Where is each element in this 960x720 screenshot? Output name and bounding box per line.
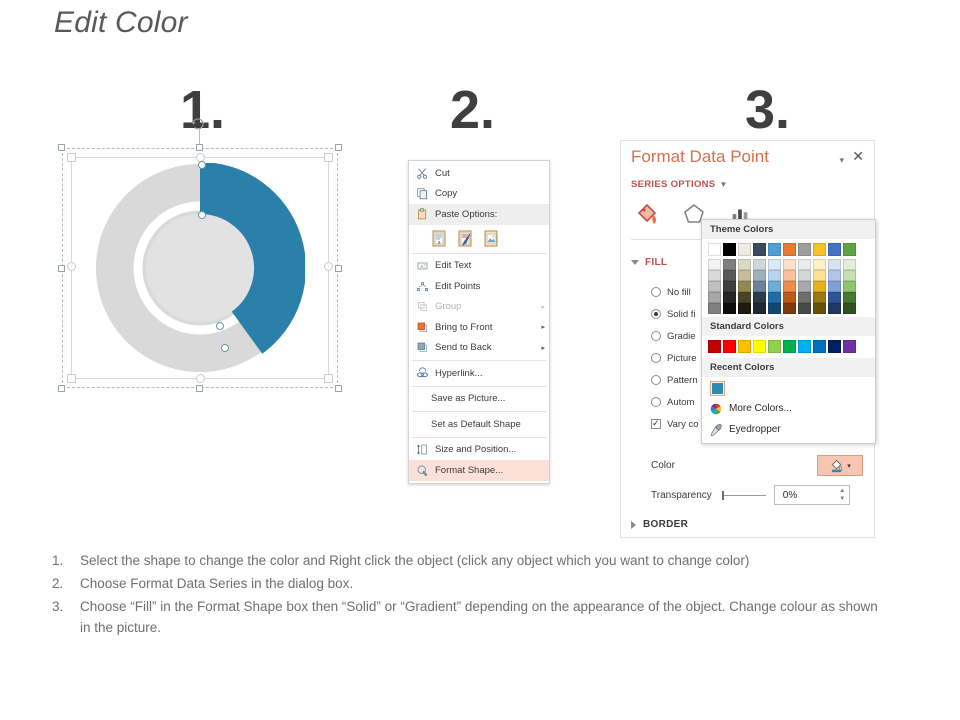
menu-item-label: Size and Position... <box>435 444 545 455</box>
theme-color-column[interactable] <box>753 243 766 314</box>
slider-track[interactable] <box>724 495 766 496</box>
menu-item-send-to-back[interactable]: Send to Back ▸ <box>409 338 549 359</box>
theme-color-swatch[interactable] <box>708 259 721 270</box>
clipboard-icon <box>413 206 431 222</box>
menu-separator <box>412 437 546 438</box>
color-label: Color <box>651 460 675 471</box>
theme-color-column[interactable] <box>768 243 781 314</box>
transparency-label: Transparency <box>651 490 712 501</box>
slice-handle-top-outer[interactable] <box>198 161 206 169</box>
size-position-icon <box>413 442 431 458</box>
chart-frame-handle-sw[interactable] <box>67 374 76 383</box>
svg-text:a: a <box>438 240 441 246</box>
edit-points-icon <box>413 278 431 294</box>
theme-color-swatch[interactable] <box>798 270 811 281</box>
scissors-icon <box>413 165 431 181</box>
format-shape-icon <box>413 462 431 478</box>
theme-color-swatch[interactable] <box>723 303 736 314</box>
standard-colors-header: Standard Colors <box>702 317 875 336</box>
theme-color-swatch[interactable] <box>813 281 826 292</box>
radio-picture-fill[interactable]: Picture <box>651 347 699 369</box>
radio-label: Autom <box>667 397 694 408</box>
submenu-arrow-icon: ▸ <box>537 303 545 311</box>
instruction-item: 2. Choose Format Data Series in the dial… <box>52 573 882 594</box>
menu-separator <box>412 411 546 412</box>
menu-item-size-and-position[interactable]: Size and Position... <box>409 440 549 461</box>
radio-label: Gradie <box>667 331 696 342</box>
fill-section-label: FILL <box>645 257 667 268</box>
resize-handle-nw[interactable] <box>58 144 65 151</box>
recent-colors-header: Recent Colors <box>702 358 875 377</box>
radio-button[interactable] <box>651 353 661 363</box>
theme-color-swatch[interactable] <box>738 243 751 256</box>
resize-handle-s[interactable] <box>196 385 203 392</box>
radio-button-selected[interactable] <box>651 309 661 319</box>
standard-color-swatch[interactable] <box>723 340 736 353</box>
chart-frame-handle-s[interactable] <box>196 374 205 383</box>
resize-handle-w[interactable] <box>58 265 65 272</box>
submenu-arrow-icon: ▸ <box>537 344 545 352</box>
checkbox[interactable] <box>651 419 661 429</box>
theme-color-swatch[interactable] <box>768 270 781 281</box>
menu-item-edit-points[interactable]: Edit Points <box>409 276 549 297</box>
more-colors-label: More Colors... <box>729 403 792 414</box>
menu-item-bring-to-front[interactable]: Bring to Front ▸ <box>409 317 549 338</box>
spinner-arrows[interactable]: ▲ ▼ <box>836 489 849 502</box>
step-number-2: 2. <box>450 83 495 137</box>
menu-item-format-shape[interactable]: Format Shape... <box>409 460 549 481</box>
slice-handle-bottom-outer[interactable] <box>221 344 229 352</box>
eyedropper-label: Eyedropper <box>729 424 781 435</box>
slice-handle-top-inner[interactable] <box>198 211 206 219</box>
radio-label: Pattern <box>667 375 698 386</box>
theme-color-swatch[interactable] <box>813 292 826 303</box>
theme-color-swatch[interactable] <box>828 292 841 303</box>
theme-color-swatch[interactable] <box>738 303 751 314</box>
eyedropper-item[interactable]: Eyedropper <box>702 419 875 443</box>
theme-color-swatch[interactable] <box>783 259 796 270</box>
instructions-list: 1. Select the shape to change the color … <box>52 550 882 640</box>
theme-color-swatch[interactable] <box>783 292 796 303</box>
instruction-text: Choose Format Data Series in the dialog … <box>80 573 882 594</box>
chevron-down-icon[interactable]: ▾ <box>847 462 851 470</box>
color-setting-row[interactable]: Color ▾ <box>651 455 863 476</box>
chart-frame-handle-w[interactable] <box>67 262 76 271</box>
menu-item-save-as-picture[interactable]: Save as Picture... <box>409 389 549 410</box>
pane-options-caret-icon[interactable]: ▾ <box>839 155 844 166</box>
standard-color-swatch[interactable] <box>798 340 811 353</box>
theme-color-swatch[interactable] <box>768 281 781 292</box>
theme-color-swatch[interactable] <box>723 243 736 256</box>
series-options-label: SERIES OPTIONS <box>631 179 715 190</box>
chevron-down-icon: ▼ <box>719 180 727 189</box>
resize-handle-ne[interactable] <box>335 144 342 151</box>
menu-item-label: Bring to Front <box>435 322 537 333</box>
menu-separator <box>412 386 546 387</box>
instruction-number: 1. <box>52 550 80 571</box>
theme-color-swatch[interactable] <box>798 303 811 314</box>
radio-automatic-fill[interactable]: Autom <box>651 391 699 413</box>
theme-color-swatch[interactable] <box>828 270 841 281</box>
chart-frame-handle-se[interactable] <box>324 374 333 383</box>
radio-button[interactable] <box>651 375 661 385</box>
theme-color-column[interactable] <box>708 243 721 314</box>
send-to-back-icon <box>413 340 431 356</box>
hyperlink-icon <box>413 365 431 381</box>
theme-color-column[interactable] <box>798 243 811 314</box>
menu-item-label: Format Shape... <box>435 465 545 476</box>
paste-keep-source-formatting-icon[interactable]: a <box>431 229 448 247</box>
menu-item-paste-options: Paste Options: <box>409 204 549 225</box>
standard-color-swatch[interactable] <box>828 340 841 353</box>
instruction-item: 1. Select the shape to change the color … <box>52 550 882 571</box>
theme-color-swatch[interactable] <box>813 259 826 270</box>
theme-color-swatch[interactable] <box>768 292 781 303</box>
rotate-handle-icon[interactable] <box>190 116 206 132</box>
fill-options-group[interactable]: No fill Solid fi Gradie Picture Pattern … <box>651 281 699 435</box>
transparency-slider[interactable] <box>722 491 766 500</box>
menu-item-label: Save as Picture... <box>431 393 545 404</box>
theme-color-swatch[interactable] <box>843 243 856 256</box>
theme-color-swatch[interactable] <box>708 292 721 303</box>
resize-handle-se[interactable] <box>335 385 342 392</box>
menu-item-label: Hyperlink... <box>435 368 545 379</box>
resize-handle-e[interactable] <box>335 265 342 272</box>
menu-item-group: Group ▸ <box>409 297 549 318</box>
theme-color-swatch[interactable] <box>753 303 766 314</box>
theme-color-column[interactable] <box>828 243 841 314</box>
theme-color-swatch[interactable] <box>723 270 736 281</box>
edit-text-icon: A <box>413 258 431 274</box>
theme-color-swatch[interactable] <box>813 243 826 256</box>
theme-color-swatch[interactable] <box>723 292 736 303</box>
instruction-text: Select the shape to change the color and… <box>80 550 882 571</box>
standard-color-swatch[interactable] <box>843 340 856 353</box>
transparency-value[interactable]: 0% <box>775 490 836 501</box>
standard-color-swatch[interactable] <box>738 340 751 353</box>
more-colors-item[interactable]: More Colors... <box>702 398 875 419</box>
menu-separator <box>412 253 546 254</box>
chart-plot-frame[interactable] <box>71 157 329 379</box>
chart-frame-handle-ne[interactable] <box>324 153 333 162</box>
border-section-header[interactable]: BORDER <box>631 519 688 530</box>
theme-color-swatch[interactable] <box>843 270 856 281</box>
triangle-down-icon <box>631 260 639 265</box>
donut-chart[interactable] <box>95 163 305 373</box>
context-menu[interactable]: Cut Copy Paste Options: <box>408 160 550 484</box>
menu-item-label: Paste Options: <box>435 209 545 220</box>
theme-color-swatch[interactable] <box>798 281 811 292</box>
radio-solid-fill[interactable]: Solid fi <box>651 303 699 325</box>
paste-options-row[interactable]: a <box>409 225 549 251</box>
fill-bucket-icon <box>829 458 844 473</box>
close-icon[interactable]: ✕ <box>852 149 864 163</box>
theme-color-swatch[interactable] <box>753 259 766 270</box>
menu-item-label: Edit Text <box>435 260 545 271</box>
spinner-down-icon[interactable]: ▼ <box>839 497 845 502</box>
theme-color-swatch[interactable] <box>708 243 721 256</box>
instruction-number: 2. <box>52 573 80 594</box>
theme-color-swatch[interactable] <box>753 270 766 281</box>
theme-color-swatch[interactable] <box>783 270 796 281</box>
menu-item-copy[interactable]: Copy <box>409 184 549 205</box>
theme-color-swatch[interactable] <box>813 270 826 281</box>
step-number-3: 3. <box>745 83 790 137</box>
theme-color-swatch[interactable] <box>753 281 766 292</box>
menu-item-label: Edit Points <box>435 281 545 292</box>
recent-colors-row[interactable] <box>702 377 875 398</box>
theme-color-swatch[interactable] <box>828 281 841 292</box>
theme-color-swatch[interactable] <box>828 303 841 314</box>
menu-item-label: Copy <box>435 188 545 199</box>
color-wheel-icon <box>708 401 723 416</box>
eyedropper-icon <box>708 422 723 437</box>
theme-color-swatch[interactable] <box>723 281 736 292</box>
radio-pattern-fill[interactable]: Pattern <box>651 369 699 391</box>
fill-section-header[interactable]: FILL <box>631 257 667 268</box>
color-picker-flyout[interactable]: Theme Colors Standard Colors Recent Colo… <box>701 219 876 444</box>
submenu-arrow-icon: ▸ <box>537 323 545 331</box>
radio-button[interactable] <box>651 287 661 297</box>
theme-color-swatch[interactable] <box>813 303 826 314</box>
standard-color-swatch[interactable] <box>768 340 781 353</box>
chart-selection-area[interactable] <box>62 148 338 388</box>
theme-color-column[interactable] <box>723 243 736 314</box>
checkbox-vary-colors[interactable]: Vary co <box>651 413 699 435</box>
standard-colors-row[interactable] <box>702 336 875 358</box>
theme-color-swatch[interactable] <box>843 303 856 314</box>
color-picker-button[interactable]: ▾ <box>817 455 863 476</box>
group-icon <box>413 299 431 315</box>
menu-item-cut[interactable]: Cut <box>409 163 549 184</box>
theme-color-swatch[interactable] <box>798 259 811 270</box>
radio-gradient-fill[interactable]: Gradie <box>651 325 699 347</box>
theme-color-column[interactable] <box>813 243 826 314</box>
theme-color-swatch[interactable] <box>843 281 856 292</box>
chart-frame-handle-e[interactable] <box>324 262 333 271</box>
resize-handle-sw[interactable] <box>58 385 65 392</box>
theme-color-swatch[interactable] <box>723 259 736 270</box>
theme-color-swatch[interactable] <box>783 281 796 292</box>
radio-no-fill[interactable]: No fill <box>651 281 699 303</box>
pane-title: Format Data Point <box>631 147 769 167</box>
theme-color-swatch[interactable] <box>738 281 751 292</box>
instruction-text: Choose “Fill” in the Format Shape box th… <box>80 596 882 638</box>
theme-color-swatch[interactable] <box>768 243 781 256</box>
checkbox-label: Vary co <box>667 419 699 430</box>
theme-colors-grid[interactable] <box>702 239 875 317</box>
copy-icon <box>413 186 431 202</box>
theme-color-column[interactable] <box>738 243 751 314</box>
theme-color-swatch[interactable] <box>798 243 811 256</box>
spinner-up-icon[interactable]: ▲ <box>839 489 845 494</box>
triangle-right-icon <box>631 521 636 529</box>
standard-color-swatch[interactable] <box>708 340 721 353</box>
instruction-item: 3. Choose “Fill” in the Format Shape box… <box>52 596 882 638</box>
slide-canvas: Edit Color 1. 2. 3. <box>0 0 960 720</box>
instruction-number: 3. <box>52 596 80 638</box>
theme-color-swatch[interactable] <box>783 303 796 314</box>
border-section-label: BORDER <box>643 519 688 530</box>
standard-color-swatch[interactable] <box>753 340 766 353</box>
radio-button[interactable] <box>651 397 661 407</box>
standard-color-swatch[interactable] <box>783 340 796 353</box>
menu-item-set-as-default-shape[interactable]: Set as Default Shape <box>409 414 549 435</box>
theme-color-swatch[interactable] <box>708 270 721 281</box>
theme-color-swatch[interactable] <box>708 281 721 292</box>
theme-color-swatch[interactable] <box>738 270 751 281</box>
page-title: Edit Color <box>54 6 188 40</box>
paste-use-destination-theme-icon[interactable] <box>457 229 474 247</box>
menu-item-label: Group <box>435 301 537 312</box>
menu-separator <box>412 360 546 361</box>
theme-color-swatch[interactable] <box>708 303 721 314</box>
theme-color-swatch[interactable] <box>753 243 766 256</box>
standard-color-swatch[interactable] <box>813 340 826 353</box>
theme-color-swatch[interactable] <box>783 243 796 256</box>
theme-color-column[interactable] <box>843 243 856 314</box>
theme-color-column[interactable] <box>783 243 796 314</box>
menu-item-edit-text[interactable]: A Edit Text <box>409 256 549 277</box>
menu-item-label: Send to Back <box>435 342 537 353</box>
radio-label: No fill <box>667 287 691 298</box>
radio-button[interactable] <box>651 331 661 341</box>
theme-color-swatch[interactable] <box>768 303 781 314</box>
theme-color-swatch[interactable] <box>768 259 781 270</box>
fill-bucket-icon[interactable] <box>633 199 661 232</box>
chart-frame-handle-nw[interactable] <box>67 153 76 162</box>
svg-text:A: A <box>420 264 423 269</box>
series-options-dropdown[interactable]: SERIES OPTIONS▼ <box>631 179 728 190</box>
menu-item-label: Cut <box>435 168 545 179</box>
theme-color-swatch[interactable] <box>843 292 856 303</box>
paste-picture-icon[interactable] <box>483 229 500 247</box>
theme-color-swatch[interactable] <box>828 243 841 256</box>
resize-handle-n[interactable] <box>196 144 203 151</box>
theme-color-swatch[interactable] <box>738 292 751 303</box>
menu-item-hyperlink[interactable]: Hyperlink... <box>409 363 549 384</box>
slice-handle-bottom-inner[interactable] <box>216 322 224 330</box>
radio-label: Solid fi <box>667 309 696 320</box>
theme-color-swatch[interactable] <box>843 259 856 270</box>
transparency-spinner[interactable]: 0% ▲ ▼ <box>774 485 850 505</box>
theme-colors-header: Theme Colors <box>702 220 875 239</box>
theme-color-swatch[interactable] <box>753 292 766 303</box>
menu-item-label: Set as Default Shape <box>431 419 545 430</box>
theme-color-swatch[interactable] <box>828 259 841 270</box>
theme-color-swatch[interactable] <box>738 259 751 270</box>
theme-color-swatch[interactable] <box>798 292 811 303</box>
bring-to-front-icon <box>413 319 431 335</box>
radio-label: Picture <box>667 353 697 364</box>
transparency-setting-row[interactable]: Transparency 0% ▲ ▼ <box>651 485 863 505</box>
recent-color-swatch[interactable] <box>710 381 725 396</box>
